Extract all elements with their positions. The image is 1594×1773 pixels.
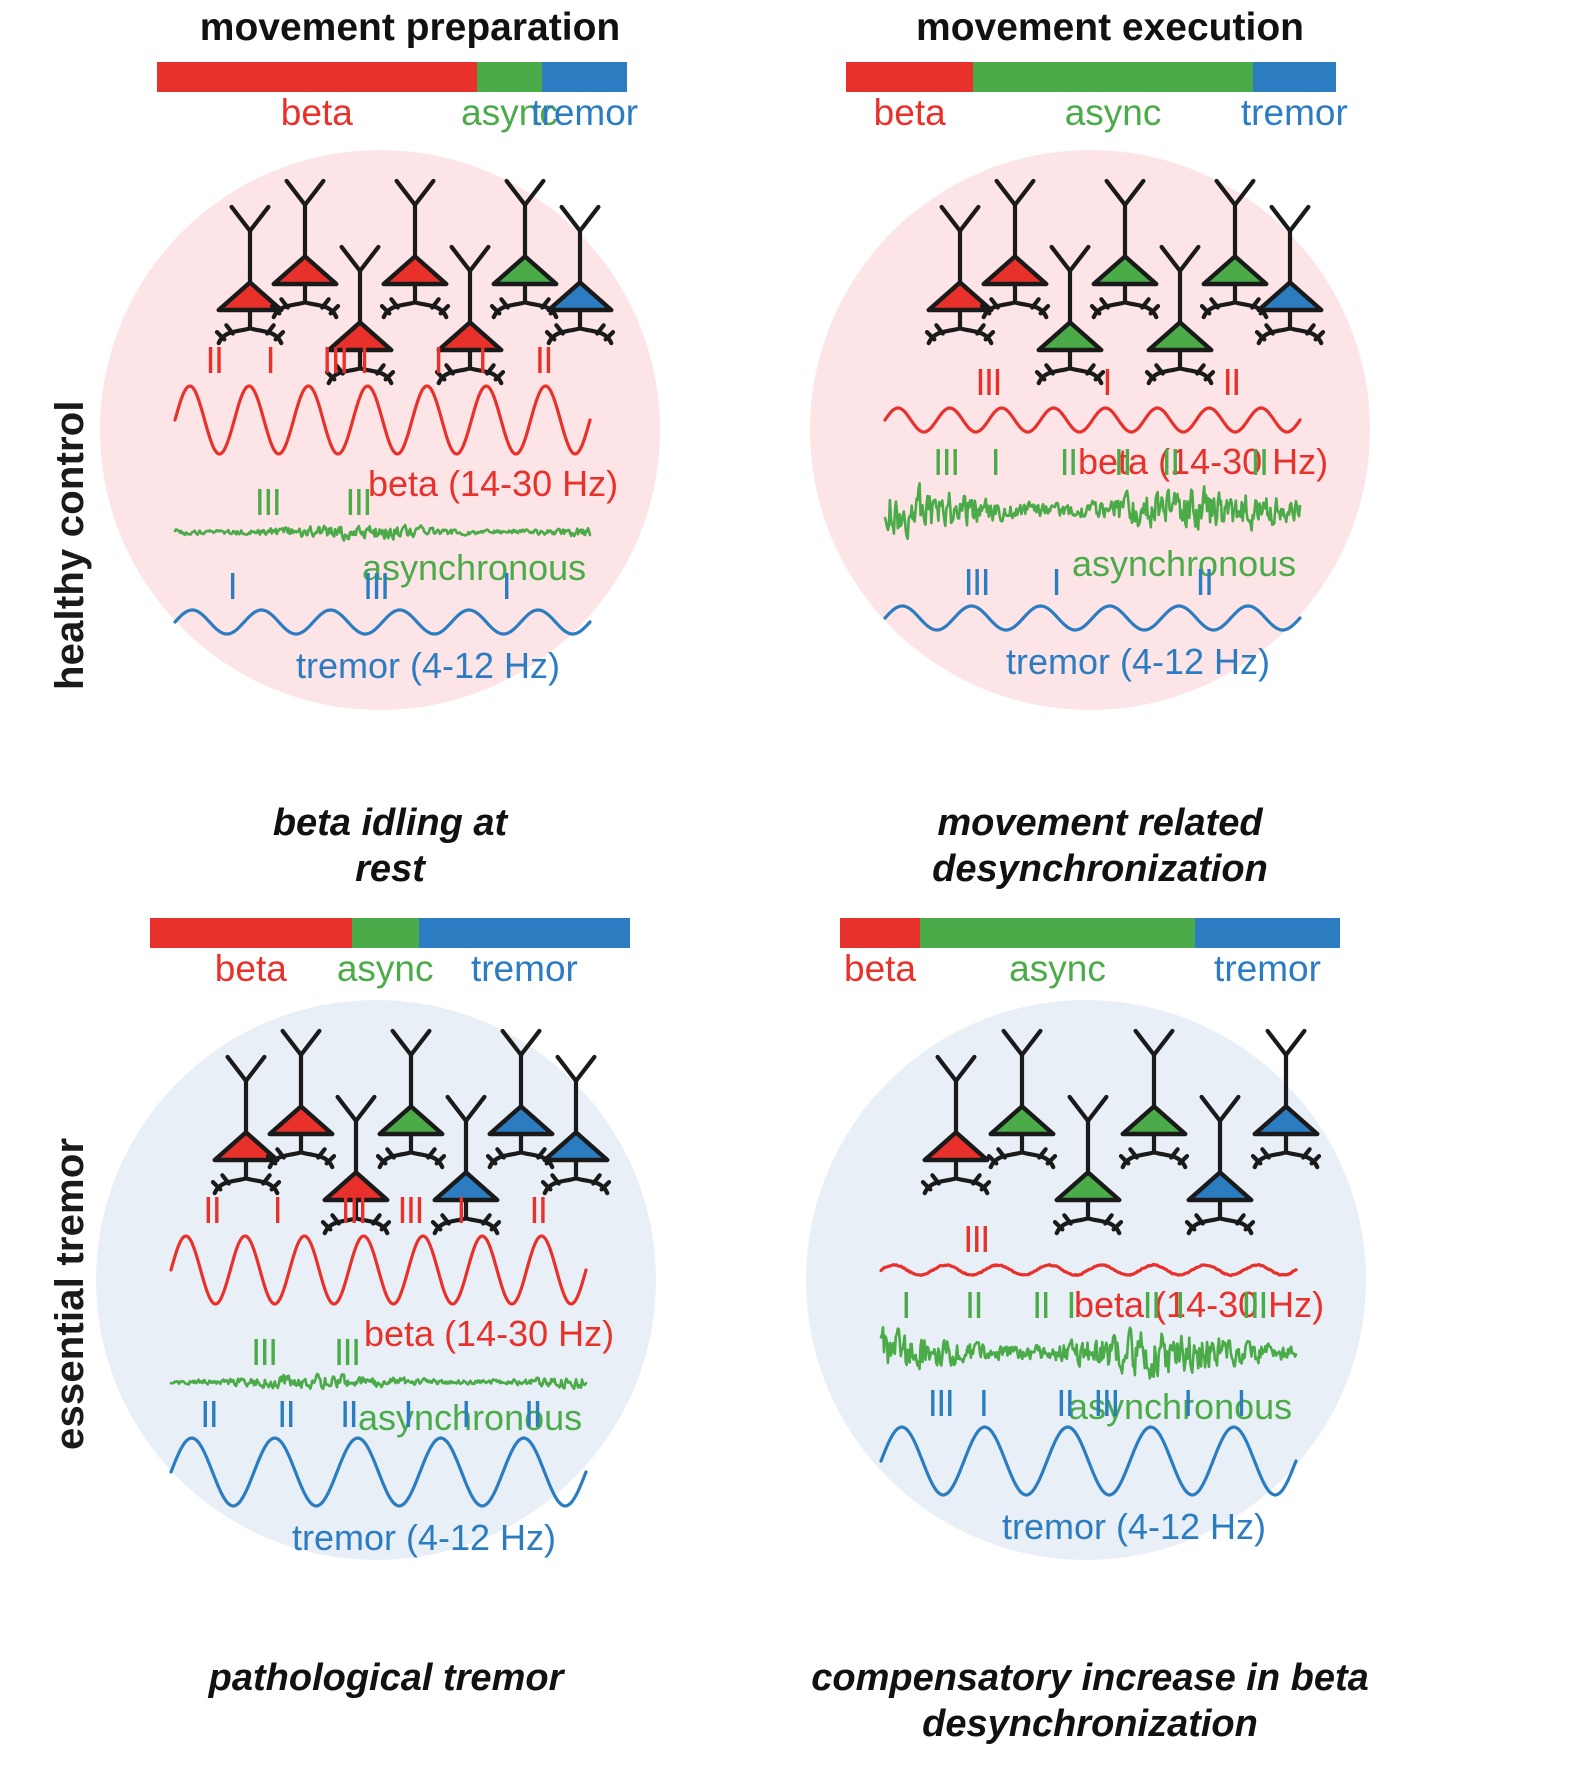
apical-tuft: [1202, 1097, 1239, 1121]
basal-twig: [213, 1182, 220, 1189]
basal-twig: [433, 1222, 440, 1229]
basal-twig: [437, 372, 444, 379]
beta-waveform: [885, 408, 1300, 432]
asynchronous-waveform: [175, 525, 590, 541]
pyramidal-neuron-4: [1187, 1097, 1253, 1233]
basal-twig: [606, 332, 613, 339]
basal-twig: [602, 1182, 609, 1189]
async-trace-label: asynchronous: [362, 547, 586, 588]
beta-waveform: [175, 386, 590, 454]
pyramidal-neuron-0: [217, 207, 283, 343]
row-label-healthy-control: healthy control: [48, 400, 93, 690]
pyramidal-neuron-2: [1055, 1097, 1121, 1233]
apical-tuft: [287, 181, 324, 205]
panel-content-healthy-execution: beta (14-30 Hz)asynchronoustremor (4-12 …: [810, 150, 1370, 720]
basal-twig: [1055, 1222, 1062, 1229]
legend-label-tremor: tremor: [471, 948, 578, 990]
tremor-trace-label: tremor (4-12 Hz): [1006, 641, 1270, 682]
column-title-movement-preparation: movement preparation: [130, 6, 690, 50]
basal-twig: [1180, 1156, 1187, 1163]
apical-tuft: [1107, 181, 1144, 205]
neuron-soma: [984, 256, 1047, 284]
basal-twig: [1037, 372, 1044, 379]
pyramidal-neuron-3: [382, 181, 448, 317]
basal-twig: [1202, 306, 1209, 313]
neuron-soma: [270, 1106, 333, 1134]
spike-raster-async: [260, 489, 368, 515]
legend-healthy-preparation: betaasynctremor: [157, 62, 627, 140]
basal-twig: [272, 1182, 279, 1189]
caption-et-preparation: pathological tremor: [126, 1655, 646, 1701]
basal-twig: [323, 1222, 330, 1229]
apical-tuft: [228, 1057, 265, 1081]
tremor-waveform: [885, 606, 1300, 630]
beta-waveform: [881, 1265, 1296, 1276]
legend-label-beta: beta: [281, 92, 353, 134]
basal-twig: [382, 1222, 389, 1229]
pyramidal-neuron-5: [492, 181, 558, 317]
apical-tuft: [1052, 247, 1089, 271]
apical-tuft: [1162, 247, 1199, 271]
basal-twig: [382, 306, 389, 313]
neuron-soma: [1204, 256, 1267, 284]
legend-label-tremor: tremor: [1214, 948, 1321, 990]
basal-twig: [496, 372, 503, 379]
pyramidal-neuron-3: [1092, 181, 1158, 317]
tremor-trace-label: tremor (4-12 Hz): [1002, 1506, 1266, 1547]
apical-tuft: [997, 181, 1034, 205]
neuron-soma: [991, 1106, 1054, 1134]
apical-tuft: [1004, 1031, 1041, 1055]
apical-tuft: [1272, 207, 1309, 231]
basal-twig: [1147, 372, 1154, 379]
basal-twig: [1092, 306, 1099, 313]
legend-segment-tremor: [1195, 918, 1340, 948]
legend-label-tremor: tremor: [531, 92, 638, 134]
apical-tuft: [338, 1097, 375, 1121]
neuron-soma: [1123, 1106, 1186, 1134]
neuron-soma: [1094, 256, 1157, 284]
apical-tuft: [558, 1057, 595, 1081]
legend-label-async: async: [1065, 92, 1162, 134]
legend-label-tremor: tremor: [1241, 92, 1348, 134]
basal-twig: [386, 372, 393, 379]
basal-twig: [331, 306, 338, 313]
apical-tuft: [562, 207, 599, 231]
pyramidal-neuron-1: [989, 1031, 1055, 1167]
legend-segment-beta: [840, 918, 920, 948]
neuron-soma: [329, 322, 392, 350]
pyramidal-neuron-0: [923, 1057, 989, 1193]
legend-bar: [840, 918, 1340, 948]
basal-twig: [1151, 306, 1158, 313]
basal-twig: [989, 1156, 996, 1163]
legend-segment-async: [477, 62, 543, 92]
basal-twig: [1257, 332, 1264, 339]
pyramidal-neuron-3: [1121, 1031, 1187, 1167]
tremor-trace-label: tremor (4-12 Hz): [296, 645, 560, 686]
legend-segment-beta: [846, 62, 973, 92]
asynchronous-waveform: [885, 483, 1300, 538]
apical-tuft: [283, 1031, 320, 1055]
apical-tuft: [452, 247, 489, 271]
async-trace-label: asynchronous: [1068, 1386, 1292, 1427]
apical-tuft: [942, 207, 979, 231]
basal-twig: [1206, 372, 1213, 379]
legend-labels: betaasynctremor: [846, 92, 1336, 140]
neuron-soma: [1255, 1106, 1318, 1134]
basal-twig: [441, 306, 448, 313]
beta-trace-label: beta (14-30 Hz): [1078, 441, 1328, 482]
neuron-soma: [490, 1106, 553, 1134]
neuron-soma: [1039, 322, 1102, 350]
legend-labels: betaasynctremor: [840, 948, 1340, 996]
neuron-soma: [380, 1106, 443, 1134]
apical-tuft: [397, 181, 434, 205]
neuron-soma: [439, 322, 502, 350]
pyramidal-neuron-5: [1202, 181, 1268, 317]
panel-content-et-execution: beta (14-30 Hz)asynchronoustremor (4-12 …: [806, 1000, 1366, 1570]
asynchronous-waveform: [881, 1327, 1296, 1378]
basal-twig: [492, 1222, 499, 1229]
pyramidal-neuron-1: [272, 181, 338, 317]
basal-twig: [1253, 1156, 1260, 1163]
spike-raster-async: [256, 1339, 356, 1365]
legend-labels: betaasynctremor: [150, 948, 630, 996]
neuron-soma: [1057, 1172, 1120, 1200]
neuron-soma: [325, 1172, 388, 1200]
column-title-movement-execution: movement execution: [830, 6, 1390, 50]
basal-twig: [378, 1156, 385, 1163]
apical-tuft: [232, 207, 269, 231]
row-label-essential-tremor: essential tremor: [48, 1138, 93, 1450]
async-trace-label: asynchronous: [1072, 543, 1296, 584]
apical-tuft: [503, 1031, 540, 1055]
legend-label-beta: beta: [215, 948, 287, 990]
legend-label-beta: beta: [844, 948, 916, 990]
apical-tuft: [1217, 181, 1254, 205]
figure-root: healthy control essential tremor movemen…: [0, 0, 1594, 1773]
caption-et-execution: compensatory increase in beta desynchron…: [800, 1655, 1380, 1748]
apical-tuft: [448, 1097, 485, 1121]
legend-labels: betaasynctremor: [157, 92, 627, 140]
basal-twig: [492, 306, 499, 313]
basal-twig: [437, 1156, 444, 1163]
neuron-soma: [384, 256, 447, 284]
panel-content-et-preparation: beta (14-30 Hz)asynchronoustremor (4-12 …: [96, 1000, 656, 1570]
basal-twig: [1121, 1156, 1128, 1163]
basal-twig: [543, 1182, 550, 1189]
basal-twig: [1187, 1222, 1194, 1229]
apical-tuft: [1070, 1097, 1107, 1121]
tremor-trace-label: tremor (4-12 Hz): [292, 1517, 556, 1558]
pyramidal-neuron-3: [378, 1031, 444, 1167]
apical-tuft: [1136, 1031, 1173, 1055]
async-trace-label: asynchronous: [358, 1397, 582, 1438]
neuron-soma: [274, 256, 337, 284]
legend-label-async: async: [1009, 948, 1106, 990]
caption-healthy-preparation: beta idling at rest: [130, 800, 650, 893]
legend-segment-beta: [150, 918, 352, 948]
legend-segment-beta: [157, 62, 477, 92]
basal-twig: [1041, 306, 1048, 313]
legend-segment-tremor: [419, 918, 630, 948]
basal-twig: [276, 332, 283, 339]
caption-healthy-execution: movement related desynchronization: [840, 800, 1360, 893]
basal-twig: [982, 1182, 989, 1189]
legend-bar: [846, 62, 1336, 92]
legend-segment-async: [973, 62, 1252, 92]
legend-segment-async: [920, 918, 1195, 948]
apical-tuft: [342, 247, 379, 271]
panel-content-healthy-preparation: beta (14-30 Hz)asynchronoustremor (4-12 …: [100, 150, 660, 720]
basal-twig: [1096, 372, 1103, 379]
pyramidal-neuron-0: [927, 207, 993, 343]
tremor-waveform: [175, 610, 590, 634]
apical-tuft: [393, 1031, 430, 1055]
neuron-soma: [1189, 1172, 1252, 1200]
basal-twig: [1048, 1156, 1055, 1163]
basal-twig: [1246, 1222, 1253, 1229]
pyramidal-neuron-1: [268, 1031, 334, 1167]
apical-tuft: [507, 181, 544, 205]
basal-twig: [1312, 1156, 1319, 1163]
pyramidal-neuron-5: [488, 1031, 554, 1167]
legend-et-execution: betaasynctremor: [840, 918, 1340, 996]
pyramidal-neuron-6: [1257, 207, 1323, 343]
legend-et-preparation: betaasynctremor: [150, 918, 630, 996]
legend-segment-tremor: [1253, 62, 1336, 92]
basal-twig: [927, 332, 934, 339]
neuron-soma: [494, 256, 557, 284]
apical-tuft: [938, 1057, 975, 1081]
basal-twig: [217, 332, 224, 339]
spike-raster-beta: [968, 1226, 985, 1252]
basal-twig: [547, 332, 554, 339]
beta-trace-label: beta (14-30 Hz): [1074, 1284, 1324, 1325]
legend-bar: [157, 62, 627, 92]
basal-twig: [327, 1156, 334, 1163]
beta-waveform: [171, 1236, 586, 1304]
pyramidal-neuron-0: [213, 1057, 279, 1193]
legend-segment-async: [352, 918, 419, 948]
legend-label-async: async: [337, 948, 434, 990]
basal-twig: [1114, 1222, 1121, 1229]
pyramidal-neuron-6: [547, 207, 613, 343]
pyramidal-neuron-6: [543, 1057, 609, 1193]
beta-trace-label: beta (14-30 Hz): [364, 1313, 614, 1354]
neuron-soma: [925, 1132, 988, 1160]
pyramidal-neuron-5: [1253, 1031, 1319, 1167]
neuron-soma: [1149, 322, 1212, 350]
basal-twig: [923, 1182, 930, 1189]
basal-twig: [1316, 332, 1323, 339]
neuron-soma: [435, 1172, 498, 1200]
legend-label-beta: beta: [874, 92, 946, 134]
basal-twig: [488, 1156, 495, 1163]
tremor-waveform: [171, 1438, 586, 1506]
neuron-soma: [1259, 282, 1322, 310]
legend-bar: [150, 918, 630, 948]
pyramidal-neuron-1: [982, 181, 1048, 317]
legend-healthy-execution: betaasynctremor: [846, 62, 1336, 140]
basal-twig: [986, 332, 993, 339]
beta-trace-label: beta (14-30 Hz): [368, 463, 618, 504]
basal-twig: [327, 372, 334, 379]
asynchronous-waveform: [171, 1374, 586, 1389]
apical-tuft: [1268, 1031, 1305, 1055]
neuron-soma: [545, 1132, 608, 1160]
neuron-soma: [549, 282, 612, 310]
tremor-waveform: [881, 1427, 1296, 1495]
legend-segment-tremor: [542, 62, 627, 92]
